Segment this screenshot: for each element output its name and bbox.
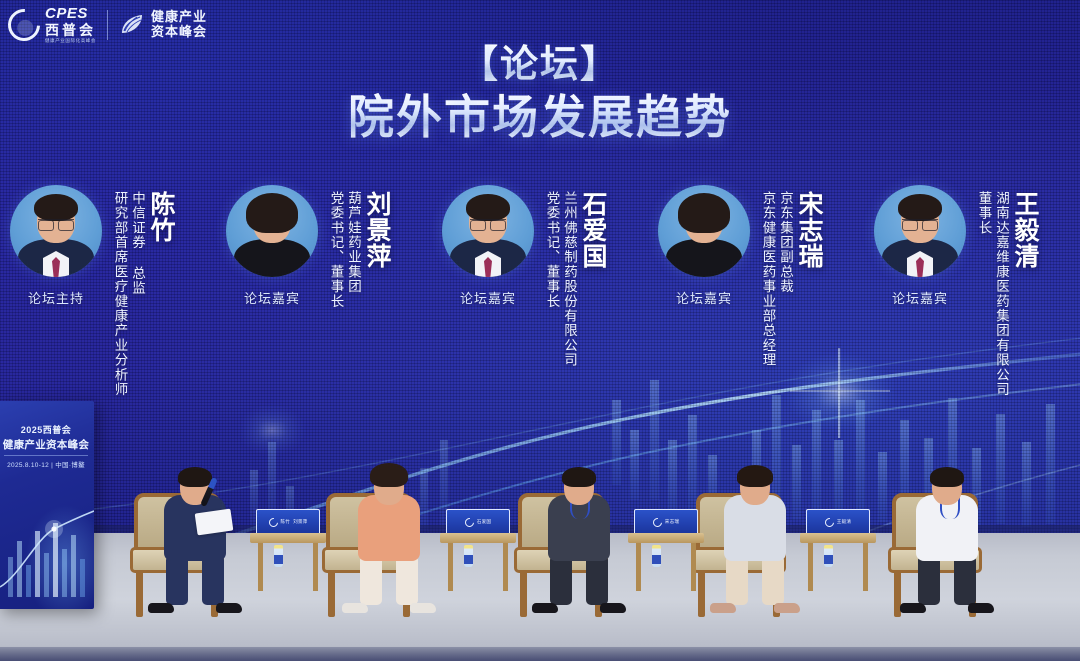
panelist-card-1: 论坛嘉宾 刘景萍 葫芦娃药业集团 党委书记、董事长 [216, 185, 432, 425]
side-table-2: 宋志瑞 [628, 509, 704, 601]
logo-divider [107, 10, 108, 40]
panelist-role: 论坛主持 [28, 288, 84, 307]
nameplate-logo-icon [651, 516, 664, 529]
nameplate-1: 石爱国 [446, 509, 510, 535]
leaf-icon [119, 12, 145, 38]
panelist-card-2: 论坛嘉宾 石爱国 兰州佛慈制药股份有限公司 党委书记、董事长 [432, 185, 648, 425]
nameplate-logo-icon [267, 516, 280, 529]
nameplate-label: 石爱国 [477, 519, 491, 525]
panelist-card-0: 论坛主持 陈竹 中信证券 总监 研究部首席医疗健康产业分析师 [0, 185, 216, 425]
seated-person-2 [534, 435, 624, 605]
seated-person-3 [712, 435, 798, 605]
panelist-role: 论坛嘉宾 [676, 288, 732, 307]
nameplate-logo-icon [823, 516, 836, 529]
panelist-name: 王毅清 [1012, 191, 1038, 269]
panelist-title-1: 党委书记、董事长 [544, 191, 560, 367]
side-table-3: 王毅清 [800, 509, 876, 601]
seated-person-1 [344, 435, 434, 605]
forum-title-line2: 院外市场发展趋势 [0, 90, 1080, 145]
avatar [442, 185, 534, 277]
cpes-logo-sub: 健康产业国际化高峰会 [45, 39, 96, 44]
nameplate-label: 王毅清 [837, 519, 851, 525]
water-bottle-1 [464, 545, 473, 567]
panelist-title-0: 京东集团副总裁 [778, 191, 794, 367]
panelist-name: 陈竹 [148, 191, 174, 243]
header-logo-bar: CPES 西普会 健康产业国际化高峰会 健康产业 资本峰会 [0, 0, 207, 44]
panelist-title-1: 研究部首席医疗健康产业分析师 [112, 191, 128, 397]
panelist-title-1: 党委书记、董事长 [328, 191, 344, 309]
panelist-title-0: 兰州佛慈制药股份有限公司 [562, 191, 578, 367]
panelist-name: 刘景萍 [364, 191, 390, 269]
cpes-logo: CPES 西普会 健康产业国际化高峰会 [8, 6, 96, 44]
water-bottle-3 [824, 545, 833, 567]
nameplate-logo-icon [463, 516, 476, 529]
nameplate-label-next: 刘景萍 [293, 519, 307, 525]
seated-panel-group: 陈竹 刘景萍 石爱国 宋志瑞 王毅清 [0, 391, 1080, 661]
avatar [874, 185, 966, 277]
health-capital-summit-logo: 健康产业 资本峰会 [119, 10, 207, 39]
panelist-title-0: 葫芦娃药业集团 [346, 191, 362, 309]
water-bottle-2 [652, 545, 661, 567]
forum-title-line1: 【论坛】 [0, 44, 1080, 88]
panelist-strip: 论坛主持 陈竹 中信证券 总监 研究部首席医疗健康产业分析师 论坛嘉宾 刘景萍 [0, 185, 1080, 425]
nameplate-3: 王毅清 [806, 509, 870, 535]
cpes-circle-logo-icon [1, 2, 46, 47]
side-table-0: 陈竹 刘景萍 [250, 509, 326, 601]
panelist-title-1: 董事长 [976, 191, 992, 397]
avatar [226, 185, 318, 277]
panelist-name: 宋志瑞 [796, 191, 822, 269]
nameplate-label: 陈竹 [281, 519, 291, 525]
avatar [658, 185, 750, 277]
forum-title-block: 【论坛】 院外市场发展趋势 [0, 44, 1080, 145]
panelist-role: 论坛嘉宾 [244, 288, 300, 307]
side-table-1: 石爱国 [440, 509, 516, 601]
seated-person-4 [902, 435, 992, 605]
water-bottle-0 [274, 545, 283, 567]
summit-logo-line1: 健康产业 [151, 10, 207, 25]
cpes-logo-en: CPES [45, 6, 96, 21]
panelist-role: 论坛嘉宾 [892, 288, 948, 307]
panelist-role: 论坛嘉宾 [460, 288, 516, 307]
panelist-name: 石爱国 [580, 191, 606, 269]
panelist-card-3: 论坛嘉宾 宋志瑞 京东集团副总裁 京东健康医药事业部总经理 [648, 185, 864, 425]
avatar [10, 185, 102, 277]
seated-person-moderator [150, 435, 240, 605]
conference-stage-screenshot: CPES 西普会 健康产业国际化高峰会 健康产业 资本峰会 【论坛】 [0, 0, 1080, 661]
panelist-title-0: 湖南达嘉维康医药集团有限公司 [994, 191, 1010, 397]
panelist-card-4: 论坛嘉宾 王毅清 湖南达嘉维康医药集团有限公司 董事长 [864, 185, 1080, 425]
cpes-logo-cn: 西普会 [45, 23, 96, 37]
nameplate-0: 陈竹 刘景萍 [256, 509, 320, 535]
nameplate-2: 宋志瑞 [634, 509, 698, 535]
panelist-title-0: 中信证券 总监 [130, 191, 146, 397]
panelist-title-1: 京东健康医药事业部总经理 [760, 191, 776, 367]
nameplate-label: 宋志瑞 [665, 519, 679, 525]
summit-logo-line2: 资本峰会 [151, 25, 207, 40]
